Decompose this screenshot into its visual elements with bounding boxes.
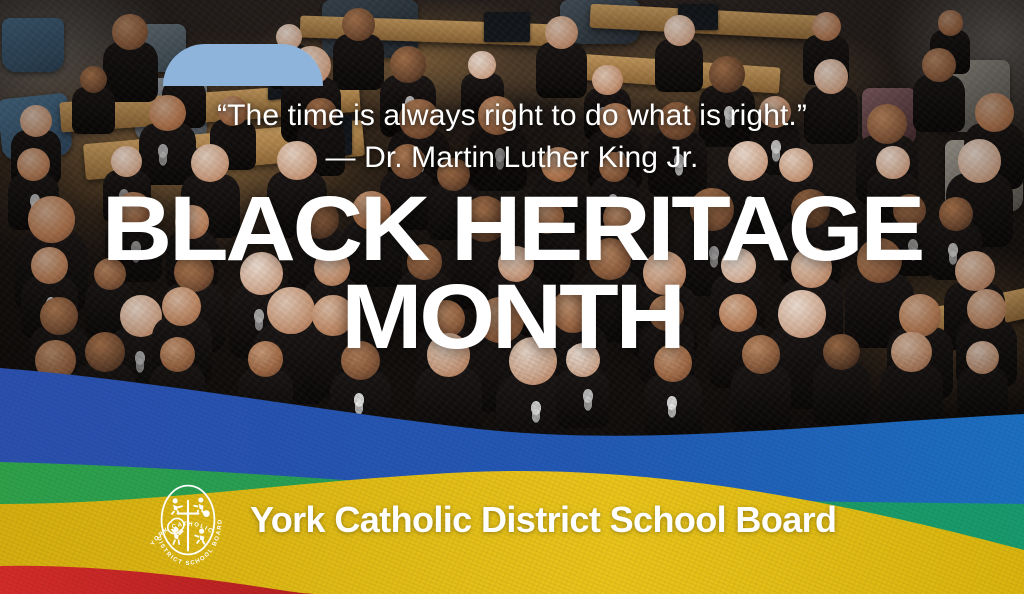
- quote-block: “The time is always right to do what is …: [0, 100, 1024, 174]
- footer-brand: YORK CATHOLIC DISTRICT SCHOOL BOARD York…: [140, 472, 836, 568]
- quote-text: “The time is always right to do what is …: [0, 100, 1024, 132]
- poster-canvas: “The time is always right to do what is …: [0, 0, 1024, 594]
- headline-line-2: MONTH: [0, 274, 1024, 360]
- headline-line-1: BLACK HERITAGE: [0, 186, 1024, 272]
- quote-attribution: — Dr. Martin Luther King Jr.: [0, 142, 1024, 174]
- page-title: BLACK HERITAGE MONTH: [0, 186, 1024, 361]
- board-name-text: York Catholic District School Board: [250, 499, 836, 541]
- blue-semicircle-decor: [163, 44, 323, 86]
- ycdsb-logo: YORK CATHOLIC DISTRICT SCHOOL BOARD: [140, 472, 236, 568]
- logo-figure-top-left: [171, 498, 183, 515]
